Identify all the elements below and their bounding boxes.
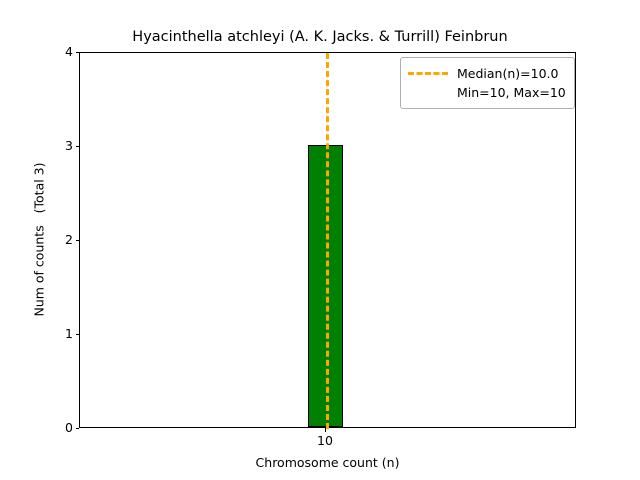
- legend: Median(n)=10.0 Min=10, Max=10: [400, 57, 575, 109]
- ytick-mark-1: [76, 334, 80, 335]
- ytick-mark-4: [76, 52, 80, 53]
- ytick-mark-3: [76, 146, 80, 147]
- chart-title: Hyacinthella atchleyi (A. K. Jacks. & Tu…: [0, 28, 640, 46]
- legend-label-minmax: Min=10, Max=10: [457, 86, 566, 100]
- chart-figure: Hyacinthella atchleyi (A. K. Jacks. & Tu…: [0, 0, 640, 480]
- xtick-label-10: 10: [295, 434, 355, 448]
- legend-label-median: Median(n)=10.0: [457, 67, 558, 81]
- ytick-mark-2: [76, 240, 80, 241]
- legend-row-minmax: Min=10, Max=10: [408, 83, 566, 102]
- legend-row-median: Median(n)=10.0: [408, 64, 566, 83]
- ytick-mark-0: [76, 428, 80, 429]
- x-axis-label: Chromosome count (n): [79, 455, 576, 470]
- y-axis-label: Num of counts (Total 3): [32, 52, 47, 428]
- xtick-mark-10: [325, 428, 326, 432]
- median-line: [326, 53, 329, 429]
- dashed-line-icon: [408, 72, 448, 75]
